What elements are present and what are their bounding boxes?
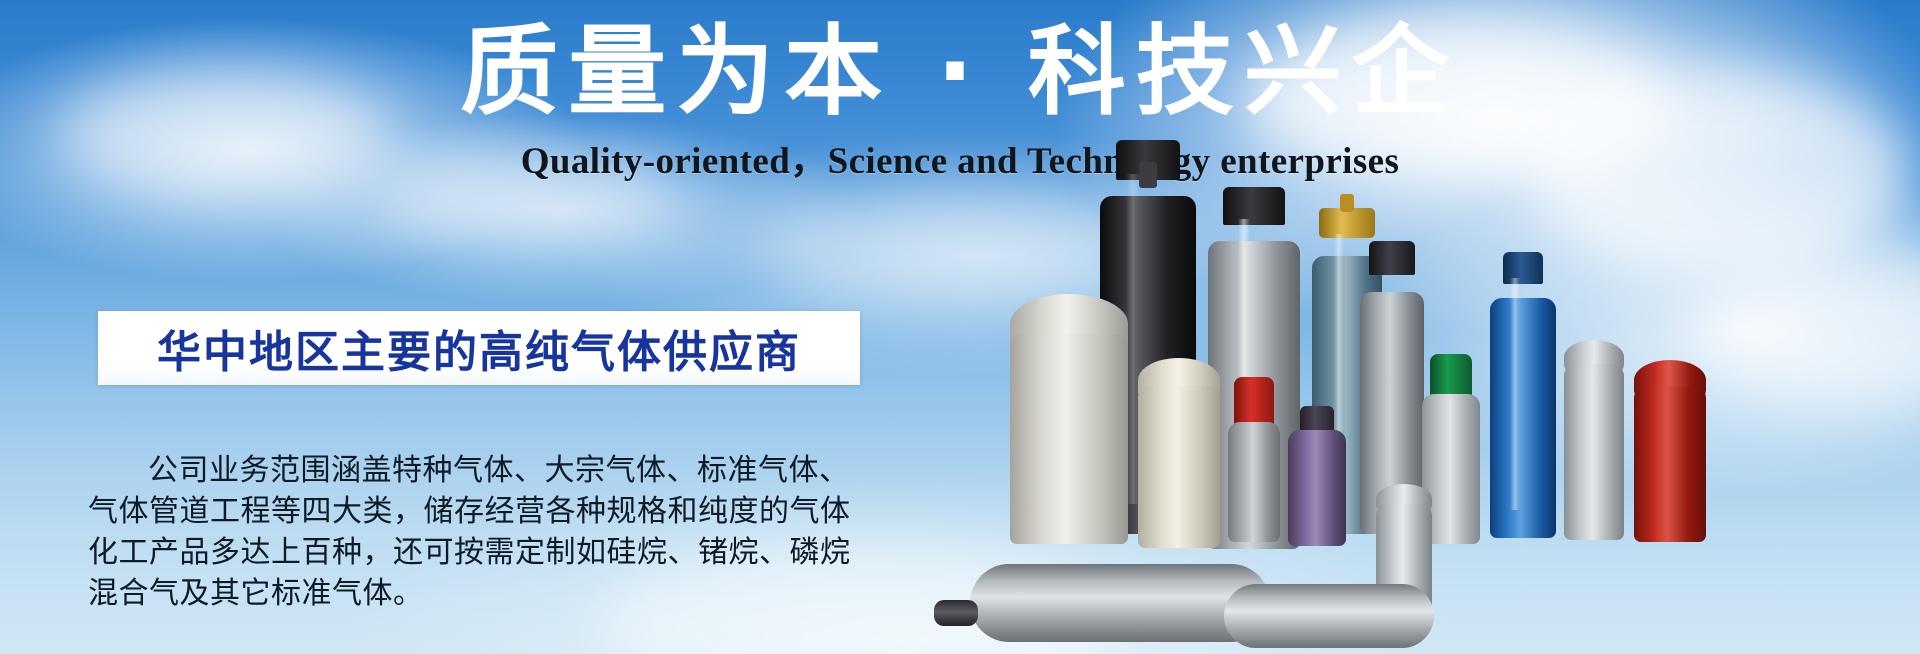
cylinder-cap <box>1234 377 1274 427</box>
cylinder-body <box>1490 298 1556 538</box>
valve-stem <box>1340 194 1354 212</box>
blue-cylinder <box>1490 278 1556 538</box>
cylinder-body <box>1288 430 1346 546</box>
cylinder-cap <box>1369 241 1415 275</box>
cylinder-body <box>1228 422 1280 542</box>
white-large-cylinder <box>1010 294 1128 544</box>
cylinder-body <box>1634 386 1706 542</box>
cylinder-valve <box>1139 162 1157 188</box>
promotional-banner: 质量为本 · 科技兴企 Quality-oriented，Science and… <box>0 0 1920 654</box>
cylinder-cap <box>1223 187 1285 225</box>
tagline-text: 华中地区主要的高纯气体供应商 <box>157 316 801 380</box>
cylinder-cap <box>1503 252 1543 284</box>
description-text: 公司业务范围涵盖特种气体、大宗气体、标准气体、气体管道工程等四大类，储存经营各种… <box>88 450 878 614</box>
horizontal-cylinder-valve <box>934 600 978 626</box>
tagline-ribbon: 华中地区主要的高纯气体供应商 <box>98 311 860 385</box>
cylinder-body <box>1138 386 1220 548</box>
gas-cylinder-cluster <box>1160 0 1920 654</box>
horizontal-grey-cylinder <box>970 564 1270 642</box>
brass-valve-icon <box>1319 208 1375 238</box>
cylinder-body <box>1564 364 1624 540</box>
cream-cylinder <box>1138 358 1220 548</box>
cylinder-body <box>1010 334 1128 544</box>
purple-small-cylinder <box>1288 406 1346 546</box>
silver-cylinder <box>1564 340 1624 540</box>
description-block: 公司业务范围涵盖特种气体、大宗气体、标准气体、气体管道工程等四大类，储存经营各种… <box>88 450 878 614</box>
horizontal-grey-cylinder <box>1224 584 1434 648</box>
red-cylinder <box>1634 360 1706 542</box>
red-neck-cylinder <box>1228 377 1280 542</box>
